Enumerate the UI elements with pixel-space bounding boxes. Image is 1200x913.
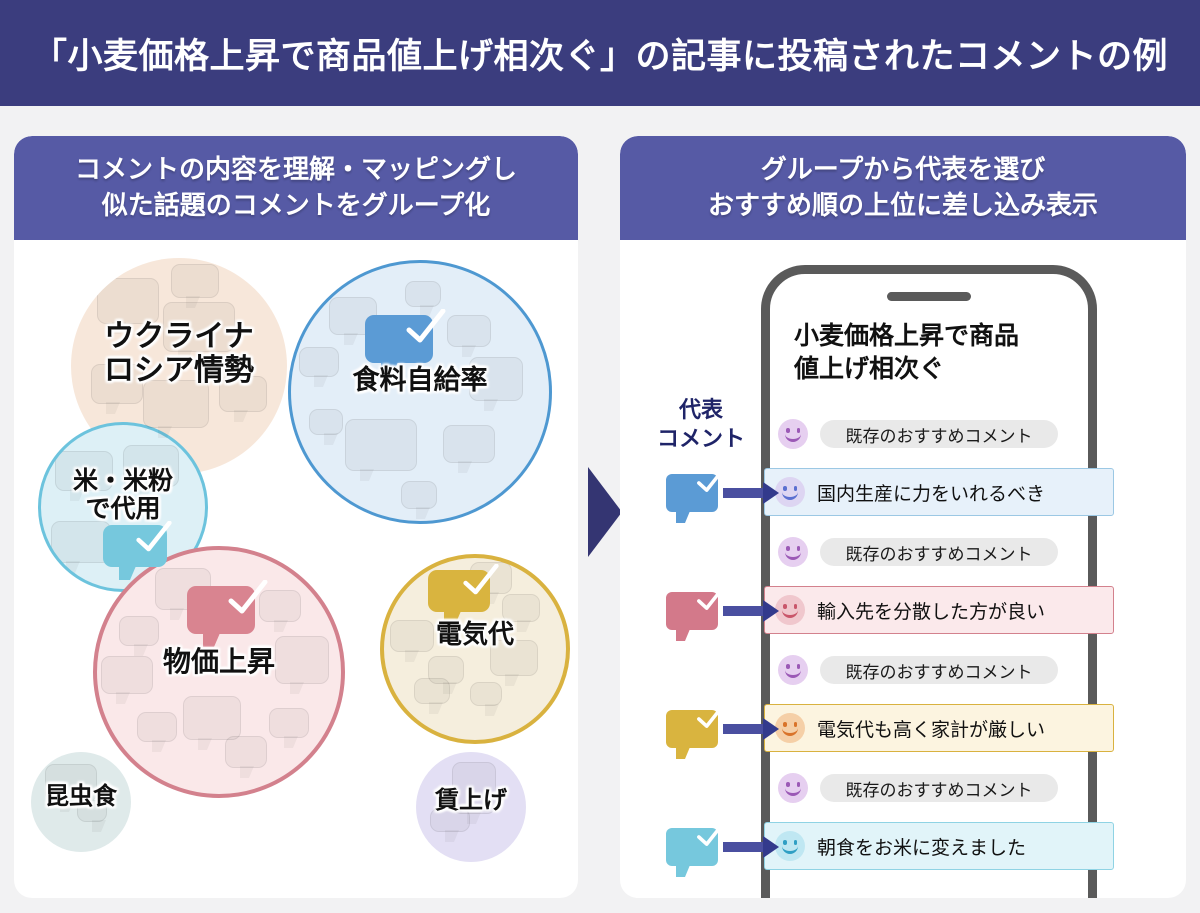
avatar — [775, 831, 805, 861]
comment-row-representative[interactable]: 電気代も高く家計が厳しい — [764, 704, 1114, 752]
cluster-label-line-1: 物価上昇 — [97, 646, 341, 677]
left-header-line-2: 似た話題のコメントをグループ化 — [102, 188, 490, 224]
comment-row[interactable]: 既存のおすすめコメント — [768, 528, 1058, 576]
ghost-bubble — [119, 616, 159, 646]
cluster-price-increase[interactable]: 物価上昇 — [93, 546, 345, 798]
ghost-bubble — [137, 712, 177, 742]
page-title: 「小麦価格上昇で商品値上げ相次ぐ」の記事に投稿されたコメントの例 — [32, 28, 1168, 79]
left-panel: コメントの内容を理解・マッピングし 似た話題のコメントをグループ化 ウクライナ … — [14, 136, 578, 898]
comment-row[interactable]: 既存のおすすめコメント — [768, 764, 1058, 812]
left-panel-header: コメントの内容を理解・マッピングし 似た話題のコメントをグループ化 — [14, 136, 578, 240]
left-header-line-1: コメントの内容を理解・マッピングし — [75, 152, 517, 188]
cluster-electricity-cost[interactable]: 電気代 — [380, 554, 570, 744]
rep-arrow-1 — [723, 482, 779, 504]
phone-speaker-notch — [887, 292, 971, 301]
ghost-bubble — [401, 481, 437, 509]
cluster-insect-food[interactable]: 昆虫食 — [31, 752, 131, 852]
cluster-wage-increase[interactable]: 賃上げ — [416, 752, 526, 862]
cluster-label: ウクライナ ロシア情勢 — [71, 320, 287, 387]
infographic-root: 「小麦価格上昇で商品値上げ相次ぐ」の記事に投稿されたコメントの例 コメントの内容… — [0, 0, 1200, 913]
cluster-map: ウクライナ ロシア情勢 食料自給率 — [14, 240, 578, 898]
comment-text: 朝食をお米に変えました — [817, 833, 1113, 860]
ghost-bubble — [269, 708, 309, 738]
rep-label-line-1: 代表 — [636, 396, 766, 425]
cluster-label-line-1: 昆虫食 — [31, 784, 131, 811]
article-title-line-1: 小麦価格上昇で商品 — [794, 320, 1084, 353]
right-panel-header: グループから代表を選び おすすめ順の上位に差し込み表示 — [620, 136, 1186, 240]
ghost-bubble — [447, 315, 491, 347]
comment-row-representative[interactable]: 朝食をお米に変えました — [764, 822, 1114, 870]
ghost-bubble — [97, 278, 159, 324]
comment-text: 既存のおすすめコメント — [820, 420, 1058, 448]
comment-text: 既存のおすすめコメント — [820, 538, 1058, 566]
avatar — [778, 537, 808, 567]
cluster-label-line-1: 食料自給率 — [291, 365, 549, 395]
rep-label-line-2: コメント — [636, 425, 766, 454]
cluster-label: 電気代 — [384, 620, 566, 649]
ghost-bubble — [51, 521, 111, 563]
comment-row-representative[interactable]: 国内生産に力をいれるべき — [764, 468, 1114, 516]
comment-text: 国内生産に力をいれるべき — [817, 479, 1113, 506]
cluster-label: 物価上昇 — [97, 646, 341, 677]
ghost-bubble — [414, 678, 450, 704]
check-icon — [225, 580, 271, 622]
cluster-label: 賃上げ — [416, 788, 526, 815]
cluster-label: 昆虫食 — [31, 784, 131, 811]
avatar — [778, 773, 808, 803]
check-icon — [133, 521, 175, 559]
ghost-bubble — [345, 419, 417, 471]
ghost-bubble — [309, 409, 343, 435]
comment-row[interactable]: 既存のおすすめコメント — [768, 646, 1058, 694]
ghost-bubble — [183, 696, 241, 740]
ghost-bubble — [143, 380, 209, 428]
cluster-label-line-1: ウクライナ — [71, 320, 287, 354]
comment-row[interactable]: 既存のおすすめコメント — [768, 410, 1058, 458]
ghost-bubble — [470, 682, 502, 706]
ghost-bubble — [405, 281, 441, 307]
right-header-line-2: おすすめ順の上位に差し込み表示 — [708, 188, 1098, 224]
cluster-label: 食料自給率 — [291, 365, 549, 395]
rep-arrow-3 — [723, 718, 779, 740]
cluster-label: 米・米粉 で代用 — [41, 467, 205, 523]
avatar — [775, 713, 805, 743]
cluster-label-line-1: 賃上げ — [416, 788, 526, 815]
avatar — [778, 419, 808, 449]
comment-text: 既存のおすすめコメント — [820, 656, 1058, 684]
comment-text: 既存のおすすめコメント — [820, 774, 1058, 802]
article-title: 小麦価格上昇で商品 値上げ相次ぐ — [794, 320, 1084, 386]
ghost-bubble — [443, 425, 495, 463]
cluster-food-self-sufficiency[interactable]: 食料自給率 — [288, 260, 552, 524]
page-title-banner: 「小麦価格上昇で商品値上げ相次ぐ」の記事に投稿されたコメントの例 — [0, 0, 1200, 106]
avatar — [775, 595, 805, 625]
cluster-label-line-2: で代用 — [41, 495, 205, 523]
cluster-label-line-2: ロシア情勢 — [71, 354, 287, 388]
check-icon — [403, 309, 449, 351]
article-title-line-2: 値上げ相次ぐ — [794, 353, 1084, 386]
right-header-line-1: グループから代表を選び — [761, 152, 1045, 188]
avatar — [775, 477, 805, 507]
rep-arrow-2 — [723, 600, 779, 622]
cluster-label-line-1: 電気代 — [384, 620, 566, 649]
ghost-bubble — [171, 264, 219, 298]
comment-text: 電気代も高く家計が厳しい — [817, 715, 1113, 742]
check-icon — [460, 564, 502, 602]
flow-arrow-icon — [588, 467, 622, 557]
comment-row-representative[interactable]: 輸入先を分散した方が良い — [764, 586, 1114, 634]
cluster-label-line-1: 米・米粉 — [41, 467, 205, 495]
avatar — [778, 655, 808, 685]
ghost-bubble — [225, 736, 267, 768]
comment-text: 輸入先を分散した方が良い — [817, 597, 1113, 624]
ghost-bubble — [502, 594, 540, 622]
rep-arrow-4 — [723, 836, 779, 858]
representative-comment-label: 代表 コメント — [636, 396, 766, 453]
